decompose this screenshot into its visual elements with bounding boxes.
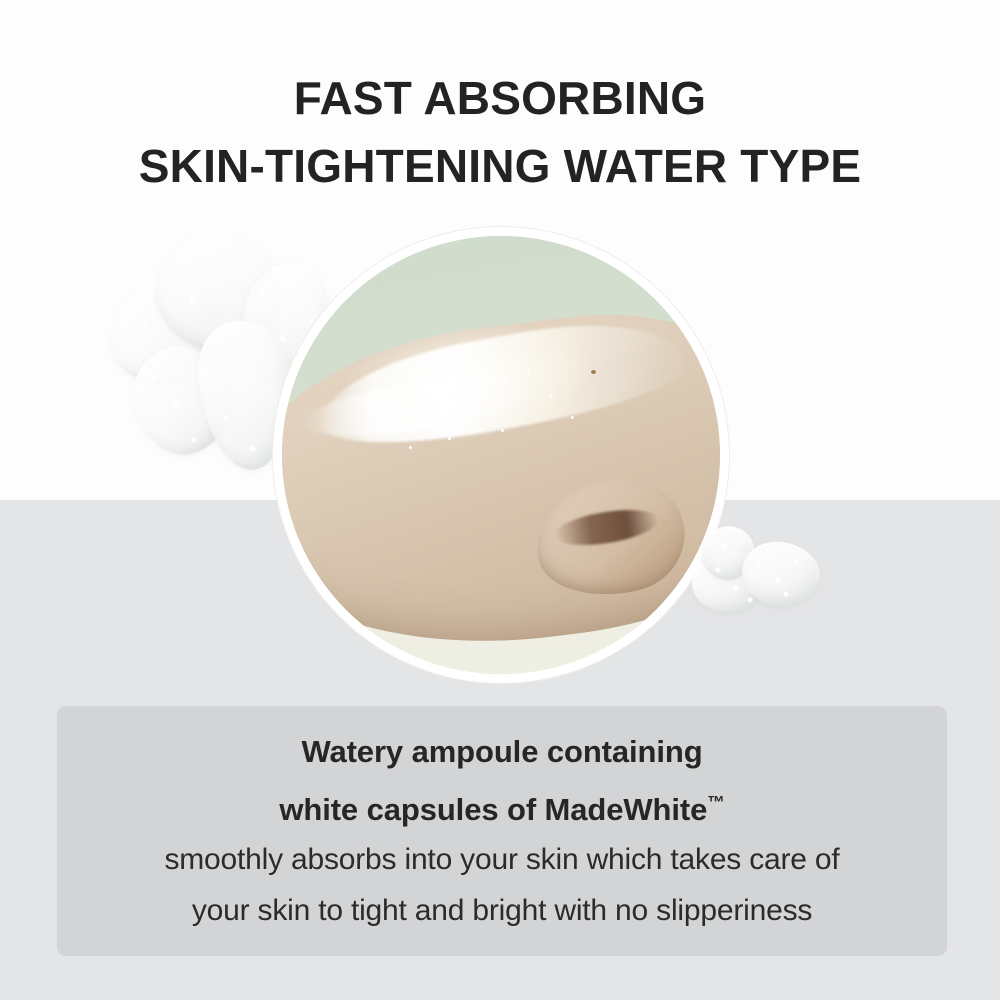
headline-line-2: SKIN-TIGHTENING WATER TYPE	[0, 132, 1000, 200]
product-feature-banner: FAST ABSORBING SKIN-TIGHTENING WATER TYP…	[0, 0, 1000, 1000]
caption-line-3: smoothly absorbs into your skin which ta…	[164, 834, 839, 885]
hero-photo-circle	[282, 236, 720, 674]
headline: FAST ABSORBING SKIN-TIGHTENING WATER TYP…	[0, 64, 1000, 200]
caption-line-2-text: white capsules of MadeWhite	[279, 791, 707, 826]
skin-mole	[591, 370, 596, 374]
trademark-symbol: ™	[707, 792, 724, 812]
caption-line-2: white capsules of MadeWhite™	[279, 777, 724, 835]
caption-line-1: Watery ampoule containing	[301, 726, 702, 777]
caption-line-4: your skin to tight and bright with no sl…	[192, 885, 812, 936]
caption-panel: Watery ampoule containing white capsules…	[57, 706, 947, 956]
headline-line-1: FAST ABSORBING	[0, 64, 1000, 132]
